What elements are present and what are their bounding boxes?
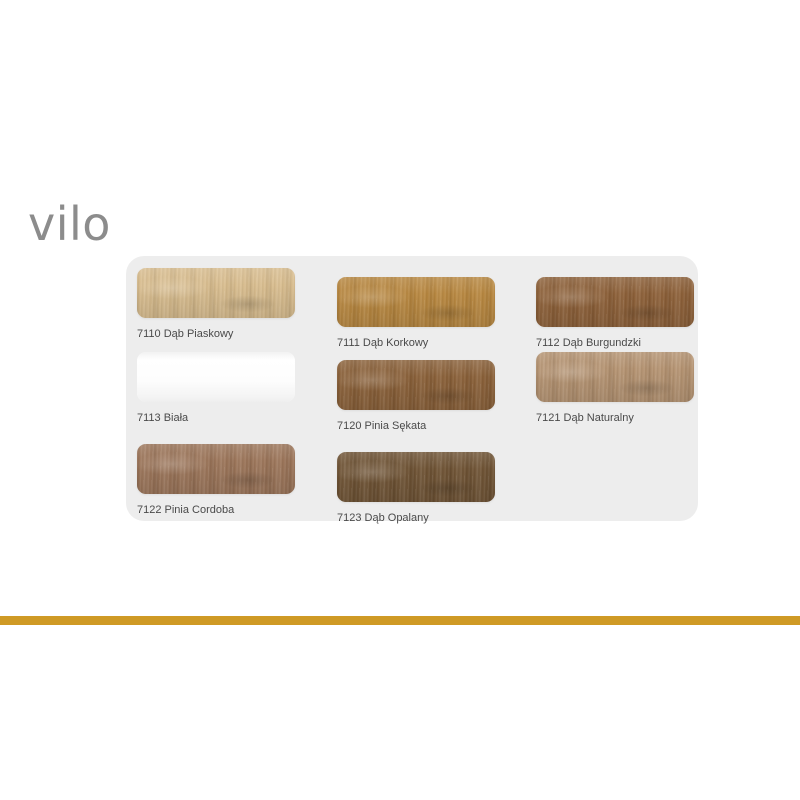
vilo-logo: vilo [28, 196, 188, 252]
wood-grain-texture [536, 352, 694, 402]
swatch-label: 7110 Dąb Piaskowy [137, 327, 295, 341]
swatch-panel: 7110 Dąb Piaskowy7111 Dąb Korkowy7112 Dą… [126, 256, 698, 521]
swatch-label: 7122 Pinia Cordoba [137, 503, 295, 517]
wood-grain-texture [137, 268, 295, 318]
swatch-cell[interactable]: 7123 Dąb Opalany [337, 452, 495, 525]
swatch-color-7123[interactable] [337, 452, 495, 502]
swatch-label: 7113 Biała [137, 411, 295, 425]
wood-grain-texture [337, 360, 495, 410]
wood-grain-texture [337, 277, 495, 327]
wood-grain-texture [137, 268, 295, 318]
swatch-cell[interactable]: 7113 Biała [137, 352, 295, 425]
wood-grain-texture [337, 360, 495, 410]
wood-grain-texture [337, 360, 495, 410]
wood-grain-texture [337, 452, 495, 502]
wood-grain-texture [137, 444, 295, 494]
swatch-label: 7120 Pinia Sękata [337, 419, 495, 433]
wood-grain-texture [137, 444, 295, 494]
swatch-cell[interactable]: 7120 Pinia Sękata [337, 360, 495, 433]
swatch-color-7110[interactable] [137, 268, 295, 318]
swatch-cell[interactable]: 7112 Dąb Burgundzki [536, 277, 694, 350]
swatch-color-7113[interactable] [137, 352, 295, 402]
wood-grain-texture [137, 444, 295, 494]
swatch-cell[interactable]: 7121 Dąb Naturalny [536, 352, 694, 425]
swatch-color-7112[interactable] [536, 277, 694, 327]
wood-grain-texture [337, 452, 495, 502]
wood-grain-texture [337, 277, 495, 327]
swatch-cell[interactable]: 7110 Dąb Piaskowy [137, 268, 295, 341]
swatch-label: 7111 Dąb Korkowy [337, 336, 495, 350]
wood-grain-texture [337, 452, 495, 502]
swatch-color-7120[interactable] [337, 360, 495, 410]
swatch-label: 7123 Dąb Opalany [337, 511, 495, 525]
swatch-cell[interactable]: 7122 Pinia Cordoba [137, 444, 295, 517]
page-root: vilo 7110 Dąb Piaskowy7111 Dąb Korkowy71… [0, 0, 800, 800]
swatch-color-7121[interactable] [536, 352, 694, 402]
swatch-label: 7112 Dąb Burgundzki [536, 336, 694, 350]
vilo-logo-text: vilo [28, 201, 111, 247]
wood-grain-texture [137, 268, 295, 318]
swatch-label: 7121 Dąb Naturalny [536, 411, 694, 425]
swatch-grid: 7110 Dąb Piaskowy7111 Dąb Korkowy7112 Dą… [126, 256, 698, 521]
wood-grain-texture [137, 352, 295, 402]
wood-grain-texture [536, 277, 694, 327]
wood-grain-texture [536, 352, 694, 402]
swatch-color-7111[interactable] [337, 277, 495, 327]
wood-grain-texture [337, 277, 495, 327]
wood-grain-texture [536, 277, 694, 327]
swatch-color-7122[interactable] [137, 444, 295, 494]
wood-grain-texture [536, 352, 694, 402]
swatch-cell[interactable]: 7111 Dąb Korkowy [337, 277, 495, 350]
accent-rule [0, 616, 800, 625]
wood-grain-texture [536, 277, 694, 327]
